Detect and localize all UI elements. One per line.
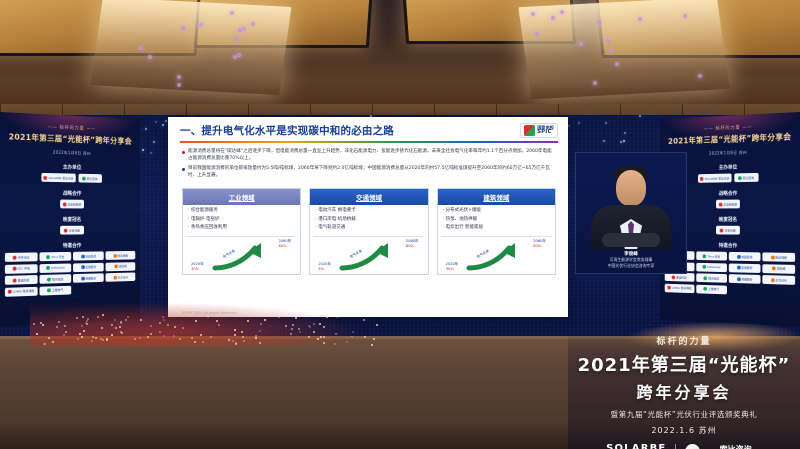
chart-end-year: 2060年: [406, 239, 419, 243]
sponsor-logo: 天合光能: [716, 226, 740, 235]
sponsor-logo-text: 隆基绿能: [118, 253, 128, 257]
domain-card-item: 电炊出行 智能家居: [443, 225, 551, 232]
sponsor-mark-icon: [64, 228, 68, 232]
sponsor-mark-icon: [44, 175, 48, 179]
glitter-speck: [163, 335, 165, 337]
sponsor-logo-text: 东方日升: [775, 278, 787, 282]
glitter-speck: [163, 319, 165, 321]
sponsor-logo-text: CEC 中电: [17, 266, 30, 270]
sponsor-logo: 中环光伏: [5, 252, 37, 261]
sponsor-mark-icon: [46, 266, 50, 270]
sponsor-logo-text: 协鑫集成: [85, 254, 96, 258]
sponsor-logo-text: LONGi 隆基绿能: [13, 289, 34, 294]
sponsor-logo: 通威股份: [729, 274, 760, 284]
conference-stage-photo: —— 标杆的力量 —— 2021年第三届“光能杯”跨年分享会 2022年1月6日…: [0, 0, 800, 449]
chart-end-label: 2060年60%: [279, 239, 292, 248]
sponsor-logo-text: Trina 天合: [51, 254, 64, 258]
sponsor-logo: 通威股份: [73, 273, 103, 282]
sponsor-mark-icon: [81, 265, 85, 269]
sponsor-logo-text: 隆基绿能: [775, 255, 787, 259]
chandelier-sparkle: [638, 17, 642, 21]
sponsor-logo: 东方日升: [763, 275, 795, 285]
glitter-speck: [298, 328, 300, 330]
glitter-speck: [125, 319, 127, 321]
glitter-speck: [111, 334, 113, 336]
slide-bullet: 能源消费总量将在“碳达峰”之后逐步下降，但电能消费总量一直呈上升趋势，非化石能源…: [182, 148, 556, 162]
sponsor-logo-text: SOLARBE 索比光伏: [48, 176, 73, 180]
solarbe-wordmark: SOLARBE: [606, 443, 666, 449]
glitter-speck: [76, 317, 78, 319]
glitter-speck: [64, 325, 66, 327]
glitter-speck: [174, 326, 176, 328]
domain-card: 交通领域电动汽车 换电重卡港口岸电 机场桥载电气轨道交通2020年4%2060年…: [309, 188, 428, 275]
event-date-city: 2022.1.6 苏州: [568, 425, 800, 436]
spic-mark-icon: [524, 125, 535, 136]
bullet-dot-icon: [182, 168, 185, 171]
glitter-speck: [202, 341, 204, 343]
sponsor-logo-text: 爱旭股份: [741, 266, 752, 270]
led-sparkle: [162, 124, 164, 126]
glitter-speck: [191, 337, 193, 339]
banner-subtitle: 2022年1月6日 苏州: [0, 148, 140, 158]
chart-end-pct: 80%: [533, 244, 546, 248]
suobi-mark-icon: [685, 444, 700, 449]
glitter-speck: [42, 324, 44, 326]
glitter-speck: [290, 333, 292, 335]
sponsor-mark-icon: [82, 176, 86, 180]
glitter-speck: [120, 322, 122, 324]
glitter-speck: [313, 323, 315, 325]
led-sparkle: [603, 140, 605, 142]
led-sparkle: [639, 115, 641, 117]
glitter-speck: [159, 322, 161, 324]
sponsor-logo-text: 通威股份: [85, 276, 96, 280]
sponsor-mark-icon: [672, 275, 675, 279]
glitter-speck: [259, 342, 261, 344]
chandelier-sparkle: [233, 55, 237, 59]
slide-title: 一、提升电气化水平是实现碳中和的必由之路: [180, 123, 394, 138]
glitter-speck: [182, 327, 184, 329]
glitter-speck: [106, 339, 108, 341]
led-sparkle: [153, 141, 155, 143]
solarbe-logo: SOLARBE 索比光伏网: [606, 443, 666, 449]
sponsor-mark-icon: [737, 277, 741, 281]
green-growth-arrow-icon: [211, 241, 273, 271]
glitter-speck: [120, 331, 122, 333]
sponsor-mark-icon: [12, 267, 16, 271]
glitter-speck: [336, 316, 338, 318]
glitter-speck: [115, 327, 117, 329]
glitter-speck: [323, 326, 325, 328]
chart-end-pct: 60%: [406, 244, 419, 248]
speaker-role-2: 中国光伏行业协会咨询专家: [580, 263, 682, 269]
glitter-speck: [255, 337, 257, 339]
domain-card-item: 分布式光伏+储能: [443, 208, 551, 215]
glitter-speck: [44, 343, 46, 345]
sponsor-logo-text: 索比咨询: [743, 175, 754, 179]
sponsor-mark-icon: [113, 254, 117, 258]
sponsor-mark-icon: [8, 290, 12, 294]
sponsor-logo: 协鑫集成: [729, 252, 760, 261]
glitter-speck: [63, 334, 65, 336]
glitter-speck: [351, 336, 353, 338]
banner-section-label: 晚宴冠名: [0, 216, 140, 223]
sponsor-logo-text: 东方日升: [118, 275, 128, 279]
domain-card-title: 工业领域: [183, 189, 300, 205]
chart-start-label: 2020年4%: [318, 262, 331, 271]
sponsor-mark-icon: [13, 255, 17, 259]
chandelier-sparkle: [593, 81, 597, 85]
glitter-speck: [81, 325, 83, 327]
glitter-speck: [150, 325, 152, 327]
event-title-line2: 跨年分享会: [568, 379, 800, 403]
glitter-speck: [195, 320, 197, 322]
chandelier-sparkle: [251, 22, 255, 26]
suobi-logo-cn: 索比咨询: [720, 445, 752, 449]
sponsor-logo: 固德威: [106, 262, 135, 271]
sponsor-mark-icon: [704, 276, 708, 280]
sponsor-logo-text: 正泰新能源: [723, 202, 737, 206]
spic-logo-en: SPIC: [537, 130, 554, 135]
glitter-speck: [87, 318, 89, 320]
sponsor-mark-icon: [738, 176, 742, 180]
glitter-speck: [364, 336, 366, 338]
chandelier-sparkle: [177, 83, 181, 87]
chart-end-year: 2060年: [279, 239, 292, 243]
sponsor-logo: 阳光电源: [40, 274, 71, 284]
chart-start-label: 2020年30%: [191, 262, 204, 271]
glitter-speck: [235, 342, 237, 344]
chart-end-label: 2060年60%: [406, 239, 419, 248]
glitter-speck: [292, 324, 294, 326]
glitter-speck: [352, 331, 354, 333]
sponsor-logo-text: 固德威: [119, 264, 127, 268]
sponsor-logo: 正泰新能源: [60, 200, 84, 209]
chandelier-sparkle: [242, 27, 246, 31]
speaker-portrait: [580, 157, 682, 249]
glitter-speck: [100, 338, 102, 340]
glitter-speck: [97, 316, 99, 318]
portrait-head: [616, 170, 646, 206]
event-brand-row: SOLARBE 索比光伏网 索比咨询 SOLARBE CONSULTING: [568, 443, 800, 449]
glitter-speck: [260, 323, 262, 325]
chandelier-sparkle: [199, 23, 203, 27]
sponsor-logo: Sofarsolar: [40, 263, 71, 272]
sponsor-logo-text: Sofarsolar: [707, 265, 721, 269]
glitter-speck: [83, 330, 85, 332]
sponsor-mark-icon: [667, 286, 670, 290]
sponsor-logo-text: Trina 天合: [707, 254, 720, 258]
domain-card-item: 电气轨道交通: [315, 225, 423, 232]
banner-logo-group: 天合光能: [0, 226, 140, 235]
glitter-speck: [309, 326, 311, 328]
glitter-speck: [58, 321, 60, 323]
glitter-speck: [127, 316, 129, 318]
glitter-speck: [150, 333, 152, 335]
domain-card-title: 交通领域: [310, 189, 427, 205]
led-sparkle: [145, 128, 147, 130]
glitter-speck: [264, 319, 266, 321]
sponsor-mark-icon: [81, 254, 85, 258]
chart-start-pct: 4%: [318, 267, 331, 271]
glitter-speck: [234, 334, 236, 336]
electrification-growth-chart: 2020年30%2060年80%电气化率: [441, 236, 552, 274]
glitter-speck: [200, 334, 202, 336]
sponsor-logo: 东方日升: [106, 272, 135, 281]
glitter-speck: [179, 338, 181, 340]
sponsor-logo-text: 索比咨询: [87, 176, 98, 180]
domain-card-title: 建筑领域: [438, 189, 555, 205]
sponsor-logo-text: 阳光电源: [708, 276, 719, 280]
banner-logo-group: 中环光伏Trina 天合协鑫集成隆基绿能CEC 中电Sofarsolar爱旭股份…: [0, 248, 140, 296]
sponsor-logo-text: 爱旭股份: [85, 265, 96, 269]
sponsor-logo: LONGi 隆基绿能: [665, 283, 694, 292]
spic-logo: 国家电投 SPIC: [520, 123, 558, 138]
glitter-speck: [48, 337, 50, 339]
sponsor-logo: 正泰新能源: [716, 200, 740, 209]
glitter-speck: [102, 314, 104, 316]
chart-start-pct: 30%: [191, 267, 204, 271]
chart-end-year: 2060年: [533, 239, 546, 243]
electrification-growth-chart: 2020年4%2060年60%电气化率: [313, 236, 424, 274]
glitter-speck: [56, 326, 58, 328]
glitter-speck: [191, 314, 193, 316]
chart-end-label: 2060年80%: [533, 239, 546, 248]
suobi-logo: 索比咨询 SOLARBE CONSULTING: [709, 444, 761, 449]
glitter-speck: [232, 340, 234, 342]
electrification-growth-chart: 2020年30%2060年60%电气化率: [186, 236, 297, 274]
sponsor-logo: 索比咨询: [78, 174, 101, 183]
sponsor-logo: Sofarsolar: [696, 262, 726, 271]
sponsor-logo: 协鑫集成: [73, 251, 103, 260]
green-growth-arrow-icon: [338, 241, 400, 271]
sponsor-mark-icon: [47, 288, 51, 292]
banner-sections: 主办单位SOLARBE 索比光伏索比咨询战略合作正泰新能源晚宴冠名天合光能特邀合…: [0, 162, 140, 297]
chandelier-sparkle: [181, 26, 185, 30]
glitter-speck: [119, 326, 121, 328]
glitter-speck: [52, 341, 54, 343]
sponsor-logo: LONGi 隆基绿能: [5, 286, 37, 296]
glitter-speck: [373, 338, 375, 340]
sponsor-logo: 晶澳科技: [5, 275, 37, 285]
sponsor-banner-left: —— 标杆的力量 —— 2021年第三届“光能杯”跨年分享会 2022年1月6日…: [0, 112, 140, 327]
sponsor-logo-text: 阳光电源: [52, 277, 63, 281]
sponsor-logo-text: 上能电气: [52, 288, 63, 292]
sponsor-logo: 阳光电源: [696, 273, 726, 282]
sponsor-logo-text: Sofarsolar: [51, 266, 65, 270]
glitter-speck: [241, 331, 243, 333]
domain-card-item: 综合能源服务: [188, 208, 296, 215]
glitter-speck: [326, 316, 328, 318]
glitter-speck: [162, 316, 164, 318]
sponsor-mark-icon: [703, 254, 707, 258]
domain-card-item: 余热余压回收利用: [188, 225, 296, 232]
glitter-speck: [320, 336, 322, 338]
domain-card-list: 电动汽车 换电重卡港口岸电 机场桥载电气轨道交通: [310, 205, 427, 235]
glitter-speck: [335, 333, 337, 335]
glitter-speck: [363, 319, 365, 321]
domain-card-item: 电动汽车 换电重卡: [315, 208, 423, 215]
portrait-arms: [602, 233, 660, 247]
banner-logo-group: SOLARBE 索比光伏索比咨询: [0, 172, 140, 183]
glitter-speck: [147, 336, 149, 338]
banner-section-label: 战略合作: [0, 189, 140, 198]
chandelier: [518, 0, 729, 99]
chandelier-sparkle: [560, 10, 564, 14]
sponsor-logo: 隆基绿能: [106, 251, 135, 260]
sponsor-mark-icon: [46, 255, 50, 259]
glitter-speck: [323, 315, 325, 317]
glitter-speck: [92, 336, 94, 338]
glitter-speck: [285, 325, 287, 327]
glitter-speck: [234, 329, 236, 331]
glitter-speck: [376, 324, 378, 326]
sponsor-logo-text: 晶澳科技: [18, 278, 30, 282]
sponsor-mark-icon: [772, 266, 776, 270]
glitter-speck: [247, 320, 249, 322]
glitter-speck: [218, 324, 220, 326]
presentation-slide: 一、提升电气化水平是实现碳中和的必由之路 国家电投 SPIC 能源消费总量将在“…: [168, 117, 568, 317]
domain-card-item: 电锅炉 电窑炉: [188, 217, 296, 224]
sponsor-logo: 爱旭股份: [729, 263, 760, 272]
sponsor-logo-text: 晶澳科技: [676, 275, 687, 279]
glitter-speck: [91, 340, 93, 342]
glitter-speck: [313, 331, 315, 333]
speaker-caption: 李俊峰 可再生能源学会常务理事 中国光伏行业协会咨询专家: [580, 249, 682, 268]
sponsor-logo-text: 固德威: [777, 266, 786, 270]
event-kicker: 标杆的力量: [568, 334, 800, 347]
glitter-speck: [371, 344, 373, 346]
ceiling: [0, 0, 800, 118]
glitter-speck: [173, 335, 175, 337]
glitter-speck: [79, 333, 81, 335]
glitter-speck: [319, 323, 321, 325]
green-growth-arrow-icon: [465, 241, 527, 271]
glitter-speck: [95, 337, 97, 339]
sponsor-logo: CEC 中电: [5, 264, 37, 274]
sponsor-mark-icon: [13, 278, 17, 282]
sponsor-logo-text: 天合光能: [69, 228, 80, 232]
sponsor-logo-text: 协鑫集成: [741, 255, 752, 259]
glitter-speck: [291, 328, 293, 330]
event-subtitle: 暨第九届“光能杯”光伏行业评选颁奖典礼: [568, 409, 800, 420]
sponsor-mark-icon: [115, 264, 119, 268]
led-sparkle: [623, 140, 625, 142]
sponsor-logo-text: SOLARBE 索比光伏: [705, 176, 730, 180]
bullet-text: 能源消费总量将在“碳达峰”之后逐步下降，但电能消费总量一直呈上升趋势，非化石能源…: [188, 148, 556, 162]
sponsor-mark-icon: [702, 265, 706, 269]
glitter-speck: [134, 338, 136, 340]
glitter-speck: [207, 316, 209, 318]
chandelier-sparkle: [531, 12, 535, 16]
sponsor-logo: 隆基绿能: [763, 252, 795, 261]
sponsor-mark-icon: [63, 202, 67, 206]
spic-logo-text: 国家电投 SPIC: [537, 126, 554, 135]
led-sparkle: [155, 121, 157, 123]
chandelier-sparkle: [237, 53, 241, 57]
led-sparkle: [605, 122, 607, 124]
led-sparkle: [165, 120, 167, 122]
glitter-speck: [228, 339, 230, 341]
slide-cards: 工业领域综合能源服务电锅炉 电窑炉余热余压回收利用2020年30%2060年60…: [168, 184, 568, 275]
glitter-speck: [36, 333, 38, 335]
sponsor-logo: Trina 天合: [696, 251, 726, 260]
glitter-speck: [278, 316, 280, 318]
sponsor-mark-icon: [704, 287, 708, 291]
glitter-speck: [159, 331, 161, 333]
glitter-speck: [111, 324, 113, 326]
domain-card: 工业领域综合能源服务电锅炉 电窑炉余热余压回收利用2020年30%2060年60…: [182, 188, 301, 275]
glitter-speck: [346, 341, 348, 343]
sponsor-logo-text: LONGi 隆基绿能: [672, 286, 692, 290]
sponsor-logo: SOLARBE 索比光伏: [42, 173, 76, 182]
sponsor-logo-text: 中环光伏: [18, 255, 30, 259]
stage-foreground-glitter: [30, 300, 380, 346]
glitter-speck: [317, 338, 319, 340]
banner-section-label: 主办单位: [0, 162, 140, 172]
sponsor-mark-icon: [719, 202, 723, 206]
slide-bullets: 能源消费总量将在“碳达峰”之后逐步下降，但电能消费总量一直呈上升趋势，非化石能源…: [168, 143, 568, 184]
sponsor-mark-icon: [113, 275, 117, 279]
glitter-speck: [82, 316, 84, 318]
glitter-speck: [139, 337, 141, 339]
chandelier-sparkle: [139, 46, 143, 50]
sponsor-mark-icon: [81, 276, 85, 280]
domain-card-list: 分布式光伏+储能热泵、地热供暖电炊出行 智能家居: [438, 205, 555, 235]
sponsor-mark-icon: [47, 277, 51, 281]
sponsor-logo-text: 上能电气: [708, 287, 719, 291]
sponsor-logo-text: 通威股份: [741, 277, 752, 281]
glitter-speck: [323, 336, 325, 338]
glitter-speck: [102, 339, 104, 341]
led-sparkle: [150, 152, 152, 154]
glitter-speck: [323, 342, 325, 344]
bullet-text: 目前我国能源消费的单位碳排放量约为5.5吨/吨标煤，2060年将下降到约2.0亿…: [188, 165, 556, 179]
led-sparkle: [142, 149, 144, 151]
sponsor-mark-icon: [720, 228, 724, 232]
event-title-block: 标杆的力量 2021年第三届“光能杯” 跨年分享会 暨第九届“光能杯”光伏行业评…: [568, 330, 800, 449]
chandelier-sparkle: [609, 49, 613, 53]
sponsor-logo: SOLARBE 索比光伏: [698, 174, 731, 183]
sponsor-logo: Trina 天合: [40, 252, 71, 261]
speaker-panel: 李俊峰 可再生能源学会常务理事 中国光伏行业协会咨询专家: [575, 152, 687, 274]
chandelier-sparkle: [615, 62, 619, 66]
led-sparkle: [620, 141, 622, 143]
glitter-speck: [243, 340, 245, 342]
chandelier-sparkle: [683, 14, 687, 18]
slide-header: 一、提升电气化水平是实现碳中和的必由之路 国家电投 SPIC: [168, 117, 568, 140]
event-title-line1: 2021年第三届“光能杯”: [568, 351, 800, 377]
sponsor-logo: 上能电气: [696, 284, 726, 294]
glitter-speck: [216, 320, 218, 322]
glitter-speck: [33, 323, 35, 325]
brand-divider: [675, 444, 676, 449]
glitter-speck: [194, 341, 196, 343]
led-sparkle: [578, 122, 580, 124]
glitter-speck: [308, 336, 310, 338]
glitter-speck: [334, 343, 336, 345]
led-sparkle: [568, 125, 570, 127]
glitter-speck: [167, 324, 169, 326]
glitter-speck: [77, 338, 79, 340]
glitter-speck: [140, 319, 142, 321]
domain-card-list: 综合能源服务电锅炉 电窑炉余热余压回收利用: [183, 205, 300, 235]
chart-end-pct: 60%: [279, 244, 292, 248]
glitter-speck: [295, 317, 297, 319]
sponsor-logo: 固德威: [763, 264, 795, 274]
banner-logo-group: 正泰新能源: [0, 199, 140, 209]
sponsor-mark-icon: [771, 255, 775, 259]
